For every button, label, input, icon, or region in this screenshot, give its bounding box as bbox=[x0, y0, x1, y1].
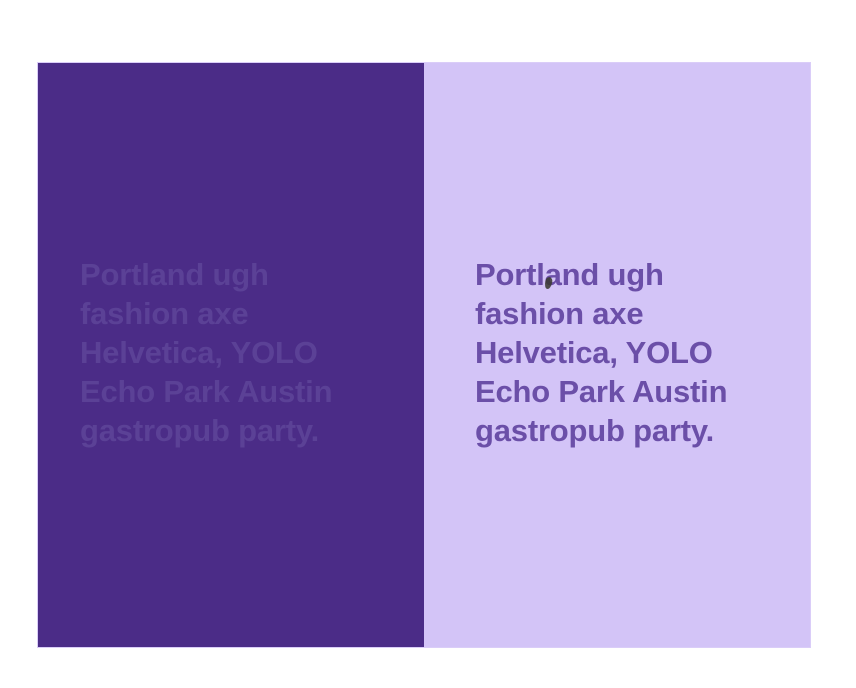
high-contrast-sample-text: Portland ugh fashion axe Helvetica, YOLO… bbox=[475, 255, 765, 450]
panel-low-contrast: Portland ugh fashion axe Helvetica, YOLO… bbox=[38, 63, 424, 647]
low-contrast-sample-text: Portland ugh fashion axe Helvetica, YOLO… bbox=[80, 255, 370, 450]
panel-high-contrast: Portland ugh fashion axe Helvetica, YOLO… bbox=[424, 63, 810, 647]
contrast-comparison-card: Portland ugh fashion axe Helvetica, YOLO… bbox=[38, 63, 810, 647]
